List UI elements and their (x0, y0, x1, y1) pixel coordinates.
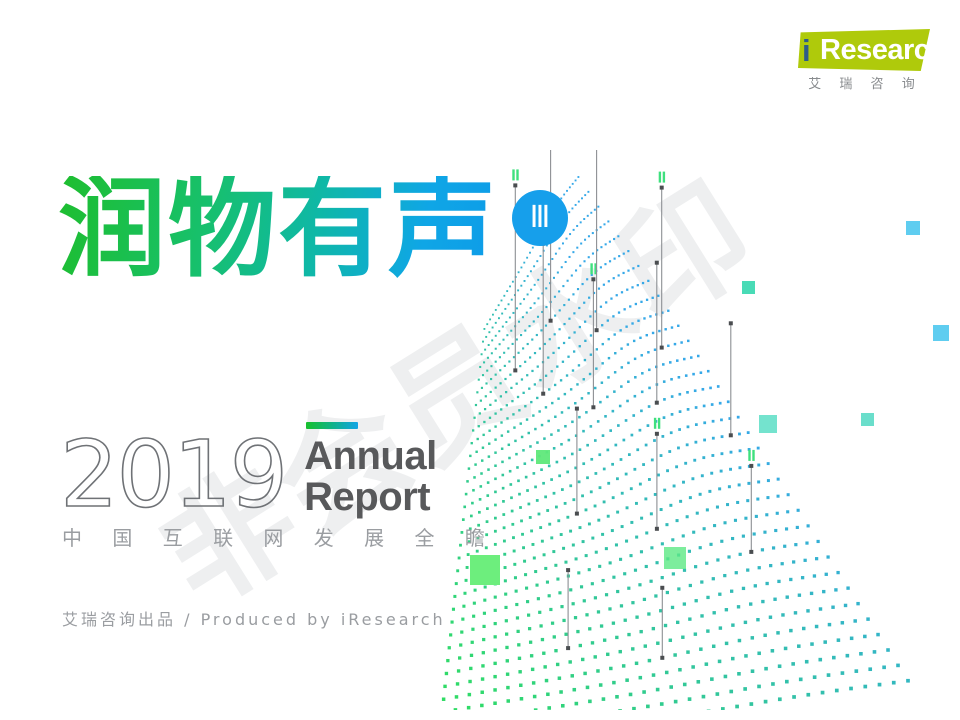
mesh-dot (683, 683, 687, 687)
mesh-dot (500, 421, 502, 423)
mesh-dot (554, 649, 557, 652)
mesh-dot (730, 590, 733, 593)
mesh-dot (644, 497, 647, 500)
mesh-dot (468, 693, 471, 696)
mesh-pin-dot (749, 464, 753, 468)
mesh-dot (516, 307, 518, 309)
mesh-dot (643, 317, 645, 319)
mesh-dot (560, 605, 563, 608)
mesh-dot (744, 654, 748, 658)
mesh-dot (757, 464, 760, 467)
mesh-dot (601, 324, 603, 326)
mesh-dot (504, 378, 506, 380)
mesh-dot (691, 477, 694, 480)
mesh-dot (554, 384, 556, 386)
mesh-dot (510, 330, 512, 332)
mesh-dot (501, 448, 503, 450)
mesh-dot (558, 290, 560, 292)
mesh-dot (612, 622, 615, 625)
mesh-dot (605, 301, 607, 303)
mesh-dot (494, 438, 496, 440)
mesh-dot (509, 374, 511, 376)
mesh-dot (586, 476, 589, 479)
mesh-dot (618, 274, 620, 276)
mesh-dot (556, 365, 558, 367)
mesh-dot (710, 677, 714, 681)
mesh-dot (692, 373, 695, 376)
mesh-dot (757, 652, 761, 656)
mesh-dot (781, 613, 784, 616)
mesh-dot (778, 697, 782, 701)
mesh-dot (482, 651, 485, 654)
mesh-dot (817, 540, 820, 543)
mesh-dot (524, 462, 527, 465)
mesh-dot (518, 409, 520, 411)
mesh-dot (846, 586, 849, 589)
mesh-dot (683, 569, 686, 572)
mesh-dot (511, 523, 514, 526)
mesh-dot (652, 673, 656, 677)
mesh-dot (522, 449, 525, 452)
mesh-dot (482, 625, 485, 628)
mesh-dot (513, 356, 515, 358)
mesh-dot (634, 358, 636, 360)
mesh-dot (526, 374, 528, 376)
mesh-dot (508, 444, 510, 446)
mesh-dot (709, 543, 712, 546)
mesh-dot (737, 672, 741, 676)
mesh-pin-dot (541, 392, 545, 396)
mesh-dot (488, 331, 490, 333)
mesh-dot (583, 260, 585, 262)
mesh-dot (529, 641, 532, 644)
mesh-dot (509, 470, 512, 473)
mesh-dot (626, 400, 629, 403)
mesh-dot (526, 489, 529, 492)
mesh-dot (527, 343, 529, 345)
mesh-dot (502, 487, 505, 490)
mesh-dot (789, 629, 792, 632)
mesh-dot (576, 247, 578, 249)
mesh-dot (815, 557, 818, 560)
mesh-dot (503, 526, 506, 529)
mesh-dot (671, 395, 674, 398)
mesh-dot (567, 407, 569, 409)
mesh-dot (502, 326, 504, 328)
mesh-dot (647, 280, 649, 282)
mesh-dot (518, 657, 521, 660)
mesh-dot (666, 469, 669, 472)
mesh-dot (641, 391, 644, 394)
mesh-dot (623, 308, 625, 310)
mesh-dot (739, 449, 742, 452)
mesh-dot (612, 496, 615, 499)
mesh-dot (494, 412, 496, 414)
mesh-dot (603, 500, 606, 503)
mesh-dot (744, 621, 747, 624)
mesh-dot (594, 209, 596, 211)
headline-group: 润物有声 Ⅲ (58, 176, 568, 284)
mesh-dot (463, 506, 466, 509)
mesh-pin-dot (660, 346, 664, 350)
mesh-dot (632, 707, 636, 710)
mesh-dot (520, 519, 523, 522)
mesh-dot (462, 518, 465, 521)
mesh-dot (569, 484, 572, 487)
mesh-dot (568, 211, 570, 213)
mesh-dot (446, 659, 449, 662)
mesh-dot (588, 700, 592, 704)
mesh-dot (594, 439, 597, 442)
mesh-dot (548, 388, 550, 390)
mesh-dot (494, 451, 496, 453)
mesh-dot (602, 434, 605, 437)
mesh-dot (637, 265, 639, 267)
mesh-dot (777, 580, 780, 583)
mesh-dot (561, 704, 565, 708)
mesh-dot (697, 680, 701, 684)
mesh-dot (625, 540, 628, 543)
mesh-dot (706, 629, 709, 632)
mesh-pin-dot (729, 433, 733, 437)
mesh-dot (539, 379, 541, 381)
mesh-dot (597, 610, 600, 613)
mesh-dot (588, 235, 590, 237)
mesh-dot (757, 447, 760, 450)
mesh-dot (582, 430, 585, 433)
mesh-dot (601, 533, 604, 536)
mesh-dot (503, 553, 506, 556)
mesh-pin-tick (748, 450, 750, 461)
mesh-dot (514, 440, 516, 442)
mesh-dot (863, 635, 867, 639)
mesh-dot (572, 602, 575, 605)
mesh-dot (661, 435, 664, 438)
mesh-dot (544, 567, 547, 570)
mesh-dot (551, 402, 553, 404)
mesh-dot (519, 365, 521, 367)
mesh-dot (616, 294, 618, 296)
mesh-dot (557, 519, 560, 522)
mesh-dot (578, 201, 580, 203)
mesh-dot (450, 621, 453, 624)
mesh-dot (527, 614, 530, 617)
mesh-dot (602, 343, 604, 345)
mesh-dot (555, 506, 558, 509)
mesh-pin-dot (549, 319, 553, 323)
mesh-dot (548, 465, 551, 468)
mesh-dot (544, 343, 546, 345)
mesh-dot (539, 347, 541, 349)
mesh-dot (825, 573, 828, 576)
mesh-dot (635, 303, 637, 305)
mesh-dot (505, 619, 508, 622)
mesh-dot (527, 293, 529, 295)
mesh-dot (646, 334, 648, 336)
mesh-dot (505, 391, 507, 393)
mesh-dot (832, 656, 836, 660)
mesh-dot (673, 653, 676, 656)
mesh-dot (608, 280, 610, 282)
mesh-dot (662, 363, 665, 366)
mesh-dot (546, 509, 549, 512)
mesh-dot (563, 342, 565, 344)
mesh-dot (749, 602, 752, 605)
mesh-dot (738, 433, 741, 436)
mesh-dot (471, 442, 473, 444)
mesh-dot (522, 347, 524, 349)
mesh-dot (663, 489, 666, 492)
mesh-dot (568, 299, 570, 301)
mesh-dot (776, 512, 779, 515)
mesh-dot (509, 317, 511, 319)
mesh-dot (613, 277, 615, 279)
mesh-dot (625, 419, 628, 422)
edition-badge: Ⅲ (512, 190, 568, 246)
mesh-dot (642, 690, 646, 694)
mesh-dot (763, 634, 766, 637)
mesh-dot (772, 546, 775, 549)
mesh-dot (546, 693, 550, 697)
mesh-dot (694, 441, 697, 444)
mesh-dot (602, 697, 606, 701)
mesh-dot (677, 447, 680, 450)
annual-label: Annual (304, 436, 437, 477)
mesh-dot (736, 501, 739, 504)
mesh-dot (777, 495, 780, 498)
mesh-dot (575, 557, 578, 560)
mesh-dot (615, 543, 618, 546)
mesh-dot (498, 330, 500, 332)
mesh-dot (549, 608, 552, 611)
mesh-dot (445, 672, 448, 675)
mesh-dot (742, 535, 745, 538)
mesh-dot (540, 468, 543, 471)
mesh-dot (529, 445, 532, 448)
mesh-dot (520, 334, 522, 336)
mesh-dot (515, 453, 518, 456)
mesh-dot (494, 517, 497, 520)
mesh-dot (494, 504, 497, 507)
mesh-dot (619, 405, 622, 408)
mesh-dot (718, 487, 721, 490)
mesh-dot (513, 426, 515, 428)
mesh-dot (547, 706, 551, 710)
mesh-dot (509, 285, 511, 287)
mesh-dot (615, 695, 619, 699)
mesh-dot (458, 656, 461, 659)
mesh-dot (706, 596, 709, 599)
mesh-dot (579, 265, 581, 267)
mesh-dot (484, 408, 486, 410)
mesh-dot (589, 315, 591, 317)
mesh-dot (495, 322, 497, 324)
mesh-dot (767, 479, 770, 482)
mesh-dot (878, 683, 882, 687)
mesh-dot (631, 647, 634, 650)
mesh-dot (477, 438, 479, 440)
mesh-dot (486, 323, 488, 325)
mesh-dot (541, 540, 544, 543)
mesh-dot (717, 385, 720, 388)
mesh-dot (631, 322, 633, 324)
mesh-dot (506, 686, 509, 689)
mesh-dot (599, 486, 602, 489)
mesh-dot (503, 295, 505, 297)
mesh-dot (639, 429, 642, 432)
mesh-dot (578, 307, 580, 309)
mesh-dot (455, 582, 458, 585)
mesh-dot (737, 416, 740, 419)
mesh-dot (712, 577, 715, 580)
mesh-dot (518, 493, 521, 496)
mesh-dot (605, 243, 607, 245)
mesh-dot (512, 413, 514, 415)
mesh-dot (541, 424, 543, 426)
mesh-dot (674, 343, 676, 345)
mesh-dot (586, 686, 590, 690)
mesh-dot (716, 558, 719, 561)
mesh-dot (614, 333, 616, 335)
mesh-dot (462, 605, 465, 608)
mesh-dot (499, 382, 501, 384)
mesh-dot (602, 579, 605, 582)
mesh-dot (648, 478, 651, 481)
mesh-dot (794, 611, 797, 614)
mesh-dot (443, 685, 446, 688)
mesh-dot (604, 415, 607, 418)
mesh-dot (562, 361, 564, 363)
logo-i-letter: i (802, 33, 811, 69)
mesh-dot (807, 524, 810, 527)
mesh-dot (608, 607, 611, 610)
mesh-dot (584, 239, 586, 241)
mesh-dot (460, 630, 463, 633)
mesh-dot (481, 387, 483, 389)
mesh-dot (718, 660, 722, 664)
mesh-dot (448, 646, 451, 649)
mesh-dot (603, 638, 606, 641)
mesh-dot (569, 256, 571, 258)
mesh-dot (579, 345, 581, 347)
mesh-dot (506, 404, 508, 406)
mesh-dot (516, 383, 518, 385)
mesh-dot (703, 421, 706, 424)
mesh-dot (503, 540, 506, 543)
mesh-dot (624, 619, 627, 622)
mesh-dot (569, 530, 572, 533)
mesh-dot (531, 339, 533, 341)
mesh-dot (564, 393, 566, 395)
mesh-dot (635, 616, 638, 619)
mesh-dot (886, 648, 890, 652)
mesh-dot (577, 176, 579, 178)
mesh-dot (511, 510, 514, 513)
mesh-dot (457, 669, 460, 672)
mesh-dot (702, 695, 706, 699)
mesh-dot (558, 474, 561, 477)
mesh-dot (769, 564, 772, 567)
mesh-dot (503, 352, 505, 354)
mesh-dot (751, 669, 755, 673)
mesh-dot (554, 315, 556, 317)
mesh-dot (639, 483, 642, 486)
mesh-dot (487, 481, 490, 484)
mesh-dot (559, 328, 561, 330)
mesh-dot (614, 371, 616, 373)
mesh-dot (849, 687, 853, 691)
mesh-dot (657, 474, 660, 477)
mesh-dot (495, 348, 497, 350)
mesh-dot (616, 511, 619, 514)
mesh-dot (530, 307, 532, 309)
mesh-dot (598, 453, 601, 456)
mesh-dot (625, 326, 627, 328)
mesh-dot (702, 456, 705, 459)
mesh-dot (551, 622, 554, 625)
mesh-dot (763, 531, 766, 534)
mesh-dot (483, 361, 485, 363)
mesh-dot (712, 437, 715, 440)
mesh-dot (633, 468, 636, 471)
mesh-dot (528, 627, 531, 630)
mesh-dot (678, 428, 681, 431)
mesh-dot (594, 655, 597, 658)
mesh-dot (524, 361, 526, 363)
mesh-dot (504, 579, 507, 582)
mesh-dot (506, 699, 510, 703)
mesh-dot (577, 571, 580, 574)
mesh-dot (627, 633, 630, 636)
mesh-dot (764, 667, 768, 671)
mesh-dot (607, 482, 610, 485)
mesh-dot (536, 397, 538, 399)
mesh-dot (575, 702, 579, 706)
mesh-dot (611, 463, 614, 466)
mesh-dot (521, 436, 523, 438)
mesh-dot (765, 582, 768, 585)
mesh-dot (571, 274, 573, 276)
mesh-dot (603, 223, 605, 225)
mesh-dot (685, 374, 688, 377)
mesh-dot (761, 600, 764, 603)
mesh-dot (798, 594, 801, 597)
mesh-dot (749, 702, 753, 706)
mesh-dot (828, 623, 831, 626)
mesh-dot (713, 611, 716, 614)
logo-word: Research (820, 31, 947, 69)
year-group: 2019 Annual Report (60, 432, 437, 518)
mesh-dot (594, 472, 597, 475)
mesh-dot (584, 194, 586, 196)
mesh-dot (539, 624, 542, 627)
mesh-dot (486, 370, 488, 372)
mesh-dot (574, 402, 576, 404)
mesh-dot (689, 584, 692, 587)
report-cover: 非会员水印 Research i 艾 瑞 咨 询 润物有声 Ⅲ 2019 Ann… (0, 0, 960, 720)
mesh-dot (499, 369, 501, 371)
mesh-dot (552, 550, 555, 553)
mesh-dot (487, 468, 490, 471)
mesh-dot (623, 572, 626, 575)
mesh-dot (591, 582, 594, 585)
mesh-dot (700, 614, 703, 617)
mesh-dot (777, 478, 780, 481)
mesh-dot (664, 624, 667, 627)
mesh-dot (560, 379, 562, 381)
mesh-dot (785, 680, 789, 684)
mesh-dot (818, 658, 822, 662)
